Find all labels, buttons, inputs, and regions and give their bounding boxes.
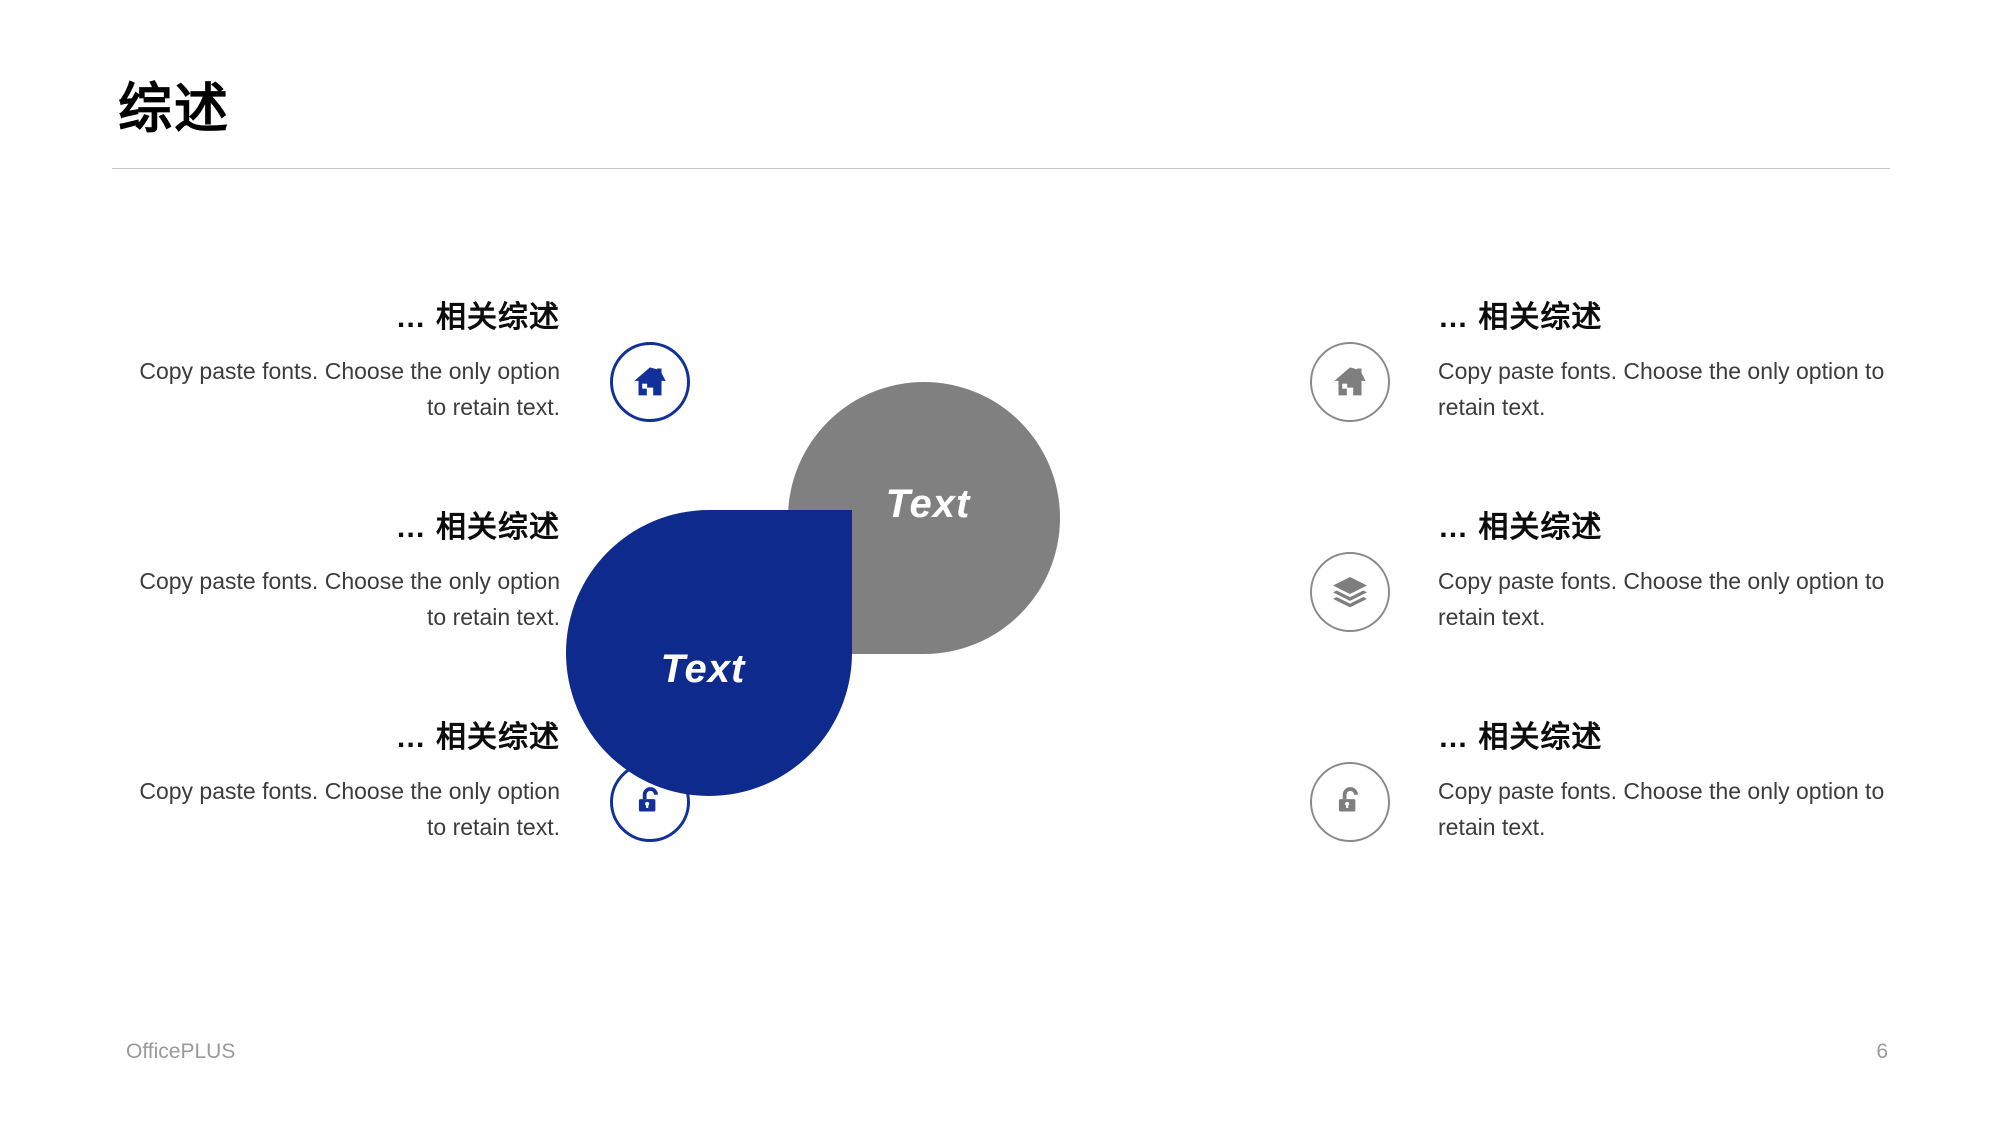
navy-drop-shape[interactable]: Text (566, 510, 852, 796)
right-item-1-heading: … 相关综述 (1438, 300, 1908, 336)
left-item-2-text: … 相关综述 Copy paste fonts. Choose the only… (130, 510, 560, 635)
left-item-3-body: Copy paste fonts. Choose the only option… (130, 774, 560, 845)
center-diagram: Text Text (700, 370, 1320, 830)
layers-icon[interactable] (1310, 552, 1390, 632)
right-item-1-body: Copy paste fonts. Choose the only option… (1438, 354, 1908, 425)
gray-drop-label: Text (886, 482, 971, 527)
right-item-3-heading: … 相关综述 (1438, 720, 1908, 756)
right-item-3-body: Copy paste fonts. Choose the only option… (1438, 774, 1908, 845)
right-item-2-text: … 相关综述 Copy paste fonts. Choose the only… (1438, 510, 1908, 635)
list-item[interactable]: … 相关综述 Copy paste fonts. Choose the only… (1310, 300, 1870, 510)
left-item-1-body: Copy paste fonts. Choose the only option… (130, 354, 560, 425)
title-divider (112, 168, 1890, 169)
page-number: 6 (1876, 1040, 1888, 1064)
right-item-2-body: Copy paste fonts. Choose the only option… (1438, 564, 1908, 635)
right-item-2-heading: … 相关综述 (1438, 510, 1908, 546)
left-item-3-text: … 相关综述 Copy paste fonts. Choose the only… (130, 720, 560, 845)
left-item-1-text: … 相关综述 Copy paste fonts. Choose the only… (130, 300, 560, 425)
page-title: 综述 (118, 82, 230, 136)
list-item[interactable]: … 相关综述 Copy paste fonts. Choose the only… (1310, 720, 1870, 930)
right-item-3-icon-wrap[interactable] (1310, 762, 1390, 842)
right-item-1-icon-wrap[interactable] (1310, 342, 1390, 422)
list-item[interactable]: … 相关综述 Copy paste fonts. Choose the only… (130, 300, 690, 510)
right-item-2-icon-wrap[interactable] (1310, 552, 1390, 632)
footer-brand: OfficePLUS (126, 1040, 235, 1064)
right-column: … 相关综述 Copy paste fonts. Choose the only… (1310, 300, 1870, 930)
right-item-3-text: … 相关综述 Copy paste fonts. Choose the only… (1438, 720, 1908, 845)
list-item[interactable]: … 相关综述 Copy paste fonts. Choose the only… (1310, 510, 1870, 720)
home-icon[interactable] (610, 342, 690, 422)
unlock-icon[interactable] (1310, 762, 1390, 842)
navy-drop-label: Text (661, 647, 746, 692)
left-item-1-icon-wrap[interactable] (610, 342, 690, 422)
left-item-2-heading: … 相关综述 (130, 510, 560, 546)
left-item-1-heading: … 相关综述 (130, 300, 560, 336)
left-item-3-heading: … 相关综述 (130, 720, 560, 756)
home-icon[interactable] (1310, 342, 1390, 422)
right-item-1-text: … 相关综述 Copy paste fonts. Choose the only… (1438, 300, 1908, 425)
left-item-2-body: Copy paste fonts. Choose the only option… (130, 564, 560, 635)
